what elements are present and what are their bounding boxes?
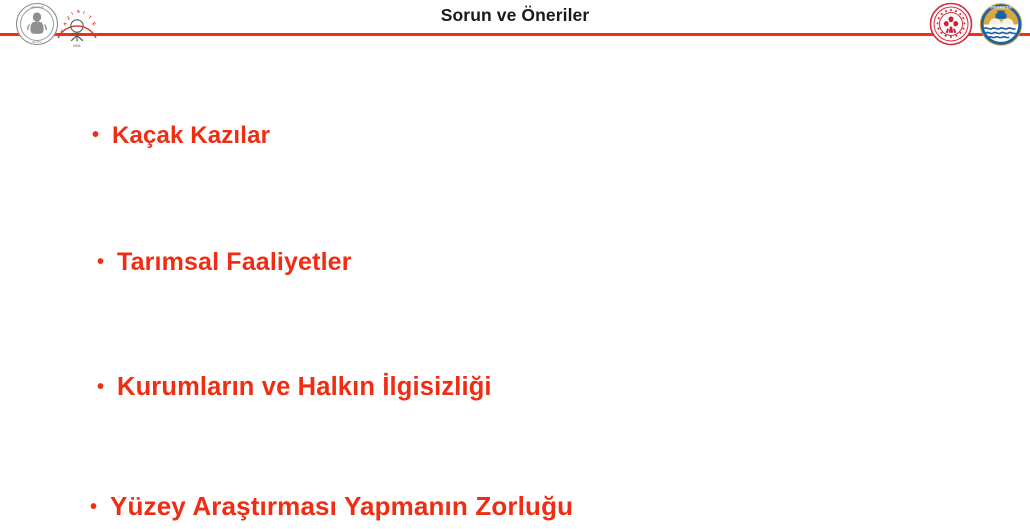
list-item: • Kurumların ve Halkın İlgisizliği [97,373,492,402]
bullet-list: • Kaçak Kazılar • Tarımsal Faaliyetler •… [0,0,1030,529]
bullet-marker-icon: • [90,497,97,517]
list-item-label: Tarımsal Faaliyetler [117,248,352,277]
presentation-slide: Sorun ve Öneriler ARKEOLOJİ MÜZESİ [0,0,1030,529]
list-item-label: Kaçak Kazılar [112,122,270,150]
bullet-marker-icon: • [97,377,104,397]
bullet-marker-icon: • [92,125,99,145]
list-item: • Tarımsal Faaliyetler [97,248,352,277]
list-item: • Kaçak Kazılar [92,122,270,150]
list-item: • Yüzey Araştırması Yapmanın Zorluğu [90,491,573,522]
bullet-marker-icon: • [97,252,104,272]
list-item-label: Yüzey Araştırması Yapmanın Zorluğu [110,491,573,522]
list-item-label: Kurumların ve Halkın İlgisizliği [117,373,492,402]
